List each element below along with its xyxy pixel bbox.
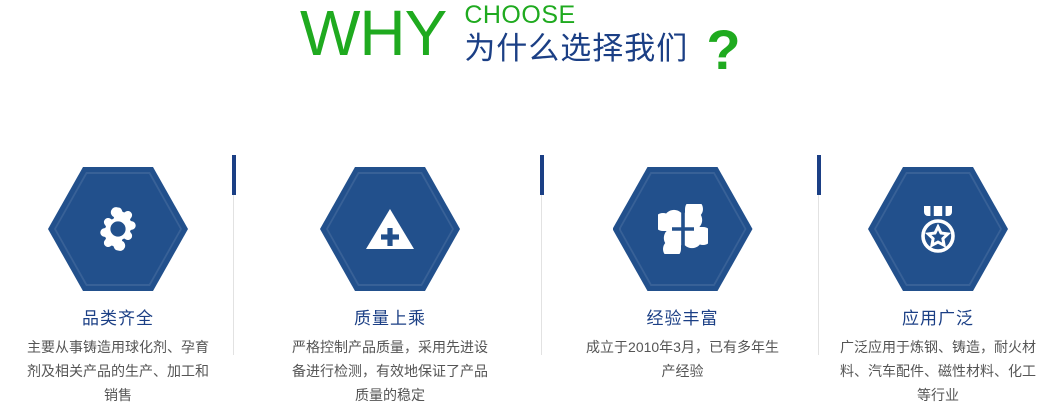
feature-title: 应用广泛 <box>902 308 974 330</box>
feature-item-4: 应用广泛 广泛应用于炼钢、铸造，耐火材料、汽车配件、磁性材料、化工等行业 <box>821 150 1055 416</box>
feature-title: 经验丰富 <box>647 308 719 330</box>
hexagon-badge-3 <box>613 167 753 291</box>
triangle-plus-icon <box>320 167 460 291</box>
divider-gray-segment <box>541 195 542 355</box>
header-chinese-subtitle: 为什么选择我们 <box>464 31 688 67</box>
feature-description: 主要从事铸造用球化剂、孕育剂及相关产品的生产、加工和销售 <box>23 335 213 407</box>
feature-description: 广泛应用于炼钢、铸造，耐火材料、汽车配件、磁性材料、化工等行业 <box>838 335 1038 407</box>
header-text-stack: CHOOSE 为什么选择我们 <box>464 2 688 67</box>
hexagon-badge-4 <box>868 167 1008 291</box>
feature-item-2: 质量上乘 严格控制产品质量，采用先进设备进行检测，有效地保证了产品质量的稳定 <box>236 150 544 416</box>
header-why-text: WHY <box>300 0 446 68</box>
header-question-mark: ? <box>706 22 740 78</box>
gear-icon <box>48 167 188 291</box>
feature-title: 品类齐全 <box>82 308 154 330</box>
medal-icon <box>868 167 1008 291</box>
feature-item-1: 品类齐全 主要从事铸造用球化剂、孕育剂及相关产品的生产、加工和销售 <box>0 150 236 416</box>
divider-gray-segment <box>818 195 819 355</box>
feature-description: 成立于2010年3月，已有多年生产经验 <box>585 335 780 383</box>
four-petal-clover-icon <box>613 167 753 291</box>
feature-columns: 品类齐全 主要从事铸造用球化剂、孕育剂及相关产品的生产、加工和销售 质量上乘 严… <box>0 150 1055 416</box>
divider-gray-segment <box>233 195 234 355</box>
hexagon-badge-1 <box>48 167 188 291</box>
feature-title: 质量上乘 <box>354 308 426 330</box>
section-header: WHY CHOOSE 为什么选择我们 ? <box>0 0 1055 100</box>
feature-description: 严格控制产品质量，采用先进设备进行检测，有效地保证了产品质量的稳定 <box>288 335 493 407</box>
header-choose-text: CHOOSE <box>464 2 688 29</box>
header-inner: WHY CHOOSE 为什么选择我们 ? <box>300 0 741 78</box>
feature-item-3: 经验丰富 成立于2010年3月，已有多年生产经验 <box>544 150 821 416</box>
hexagon-badge-2 <box>320 167 460 291</box>
